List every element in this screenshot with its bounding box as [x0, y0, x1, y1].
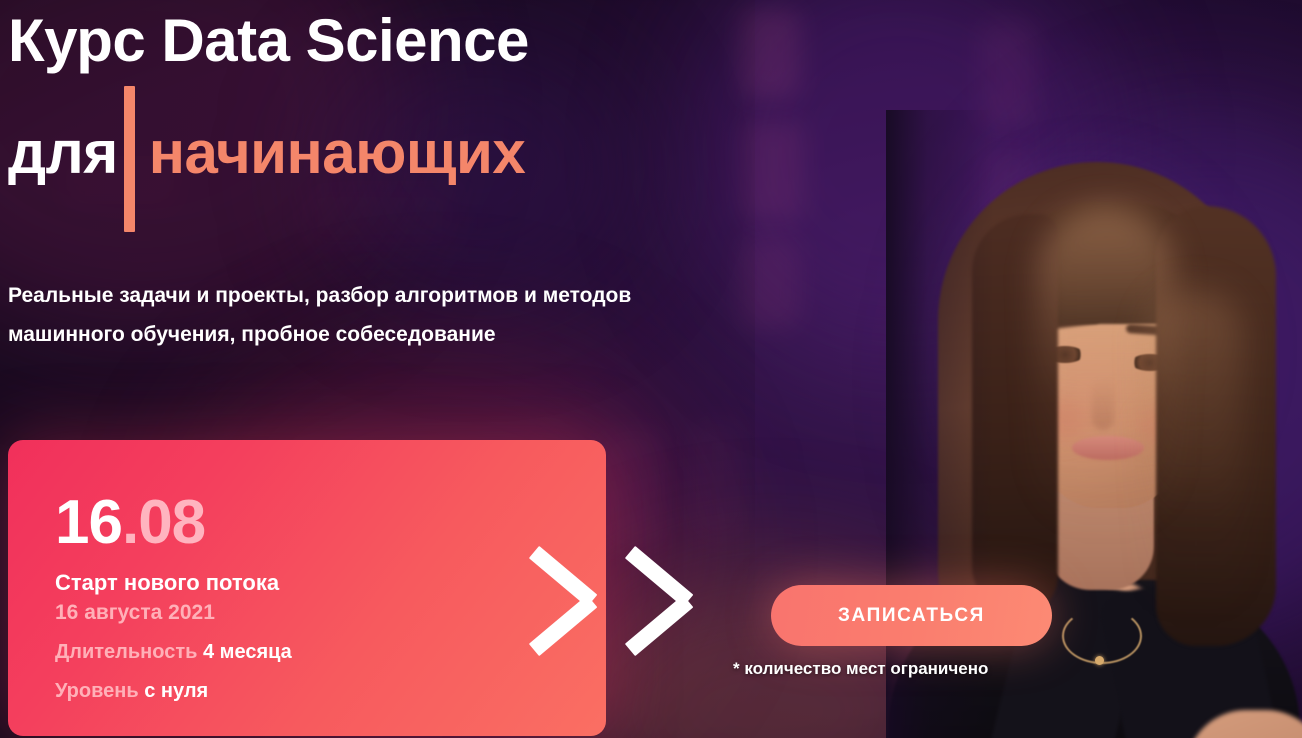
title-line-2-accent: начинающих — [149, 114, 526, 192]
level-row: Уровень с нуля — [55, 676, 292, 706]
start-label: Старт нового потока — [55, 568, 292, 598]
duration-row: Длительность 4 месяца — [55, 637, 292, 667]
course-start-card: 16.08 Старт нового потока 16 августа 202… — [8, 440, 606, 736]
signup-button[interactable]: ЗАПИСАТЬСЯ — [771, 585, 1052, 646]
course-start-card-content: 16.08 Старт нового потока 16 августа 202… — [55, 492, 292, 706]
start-date-month: .08 — [122, 488, 205, 557]
level-value: с нуля — [144, 680, 208, 702]
title-line-2-plain: для — [8, 114, 118, 192]
page-title: Курс Data Science для начинающих — [8, 2, 808, 226]
start-date-full: 16 августа 2021 — [55, 598, 292, 628]
hero-subtitle: Реальные задачи и проекты, разбор алгори… — [8, 276, 708, 354]
title-line-1: Курс Data Science — [8, 2, 808, 80]
limited-seats-note: * количество мест ограничено — [733, 659, 988, 679]
title-line-2: для начинающих — [8, 80, 808, 226]
hero-banner: Курс Data Science для начинающих Реальны… — [0, 0, 1302, 738]
duration-value: 4 месяца — [203, 641, 292, 663]
start-date-day: 16 — [55, 488, 122, 557]
level-label: Уровень — [55, 680, 139, 702]
duration-label: Длительность — [55, 641, 197, 663]
accent-bar-decoration — [124, 86, 135, 232]
start-date-big: 16.08 — [55, 492, 292, 554]
